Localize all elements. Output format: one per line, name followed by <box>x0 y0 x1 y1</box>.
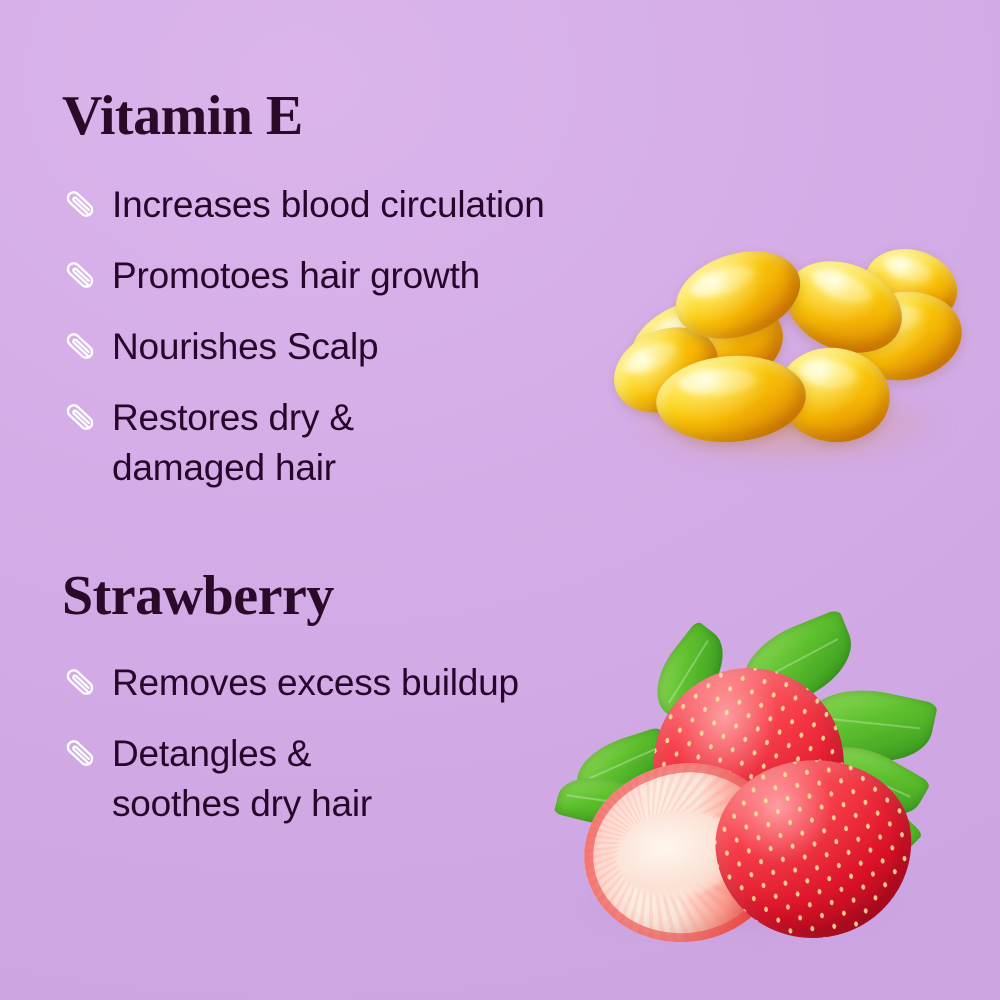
benefit-text: Detangles & soothes dry hair <box>112 729 372 829</box>
paperclip-icon <box>61 185 98 222</box>
benefit-text: Nourishes Scalp <box>112 322 378 372</box>
list-item: Removes excess buildup <box>62 658 519 708</box>
product-benefits-infographic: Vitamin E Increases blood circulation <box>0 0 1000 1000</box>
strawberry-fruit-image <box>548 632 948 942</box>
benefit-list-strawberry: Removes excess buildup Detangles & sooth… <box>62 658 519 829</box>
benefit-text: Restores dry & damaged hair <box>112 393 354 493</box>
section-vitamin-e: Vitamin E Increases blood circulation <box>62 86 545 493</box>
vitamin-e-softgel-capsules-image <box>612 238 962 473</box>
list-item: Nourishes Scalp <box>62 322 545 372</box>
benefit-text: Increases blood circulation <box>112 180 545 230</box>
paperclip-icon <box>61 663 98 700</box>
list-item: Promotoes hair growth <box>62 251 545 301</box>
strawberry-seeds <box>707 750 921 948</box>
section-heading-strawberry: Strawberry <box>62 566 519 626</box>
paperclip-icon <box>61 327 98 364</box>
paperclip-icon <box>61 734 98 771</box>
list-item: Increases blood circulation <box>62 180 545 230</box>
benefit-text: Removes excess buildup <box>112 658 519 708</box>
benefit-text: Promotoes hair growth <box>112 251 480 301</box>
paperclip-icon <box>61 398 98 435</box>
benefit-list-vitamin-e: Increases blood circulation Promotoes ha… <box>62 180 545 493</box>
list-item: Restores dry & damaged hair <box>62 393 545 493</box>
paperclip-icon <box>61 256 98 293</box>
strawberry-whole-front <box>707 750 921 948</box>
section-heading-vitamin-e: Vitamin E <box>62 86 545 146</box>
section-strawberry: Strawberry Removes excess buildup <box>62 566 519 829</box>
list-item: Detangles & soothes dry hair <box>62 729 519 829</box>
